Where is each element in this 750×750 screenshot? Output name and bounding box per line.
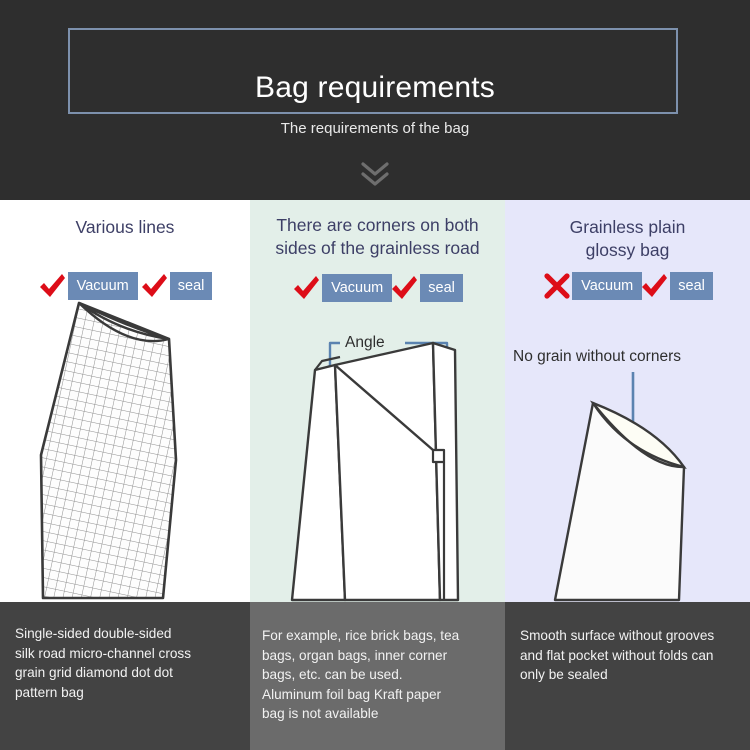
panel-grainless-glossy: Grainless plain glossy bag Vacuum seal N… xyxy=(505,200,750,602)
caption-text-grainless-glossy: Smooth surface without grooves and flat … xyxy=(520,626,742,685)
illustration-plain-smooth-bag xyxy=(505,200,750,602)
caption-panel-grainless-glossy: Smooth surface without grooves and flat … xyxy=(505,602,750,750)
header-banner: Bag requirements The requirements of the… xyxy=(0,0,750,200)
illustration-grid-texture-bag xyxy=(0,200,250,602)
chevron-double-down-icon xyxy=(0,160,750,195)
panel-row: Various lines Vacuum seal Grain xyxy=(0,200,750,602)
page-subtitle: The requirements of the bag xyxy=(0,118,750,140)
caption-panel-corners-both-sides: For example, rice brick bags, tea bags, … xyxy=(250,602,505,750)
illustration-side-gusset-bag xyxy=(250,200,505,602)
panel-corners-both-sides: There are corners on both sides of the g… xyxy=(250,200,505,602)
panel-various-lines: Various lines Vacuum seal Grain xyxy=(0,200,250,602)
page-title: Bag requirements xyxy=(0,68,750,108)
infographic-page: Bag requirements The requirements of the… xyxy=(0,0,750,750)
caption-row: Single-sided double-sided silk road micr… xyxy=(0,602,750,750)
caption-text-corners-both-sides: For example, rice brick bags, tea bags, … xyxy=(262,626,495,724)
caption-text-various-lines: Single-sided double-sided silk road micr… xyxy=(15,624,238,702)
caption-panel-various-lines: Single-sided double-sided silk road micr… xyxy=(0,602,250,750)
